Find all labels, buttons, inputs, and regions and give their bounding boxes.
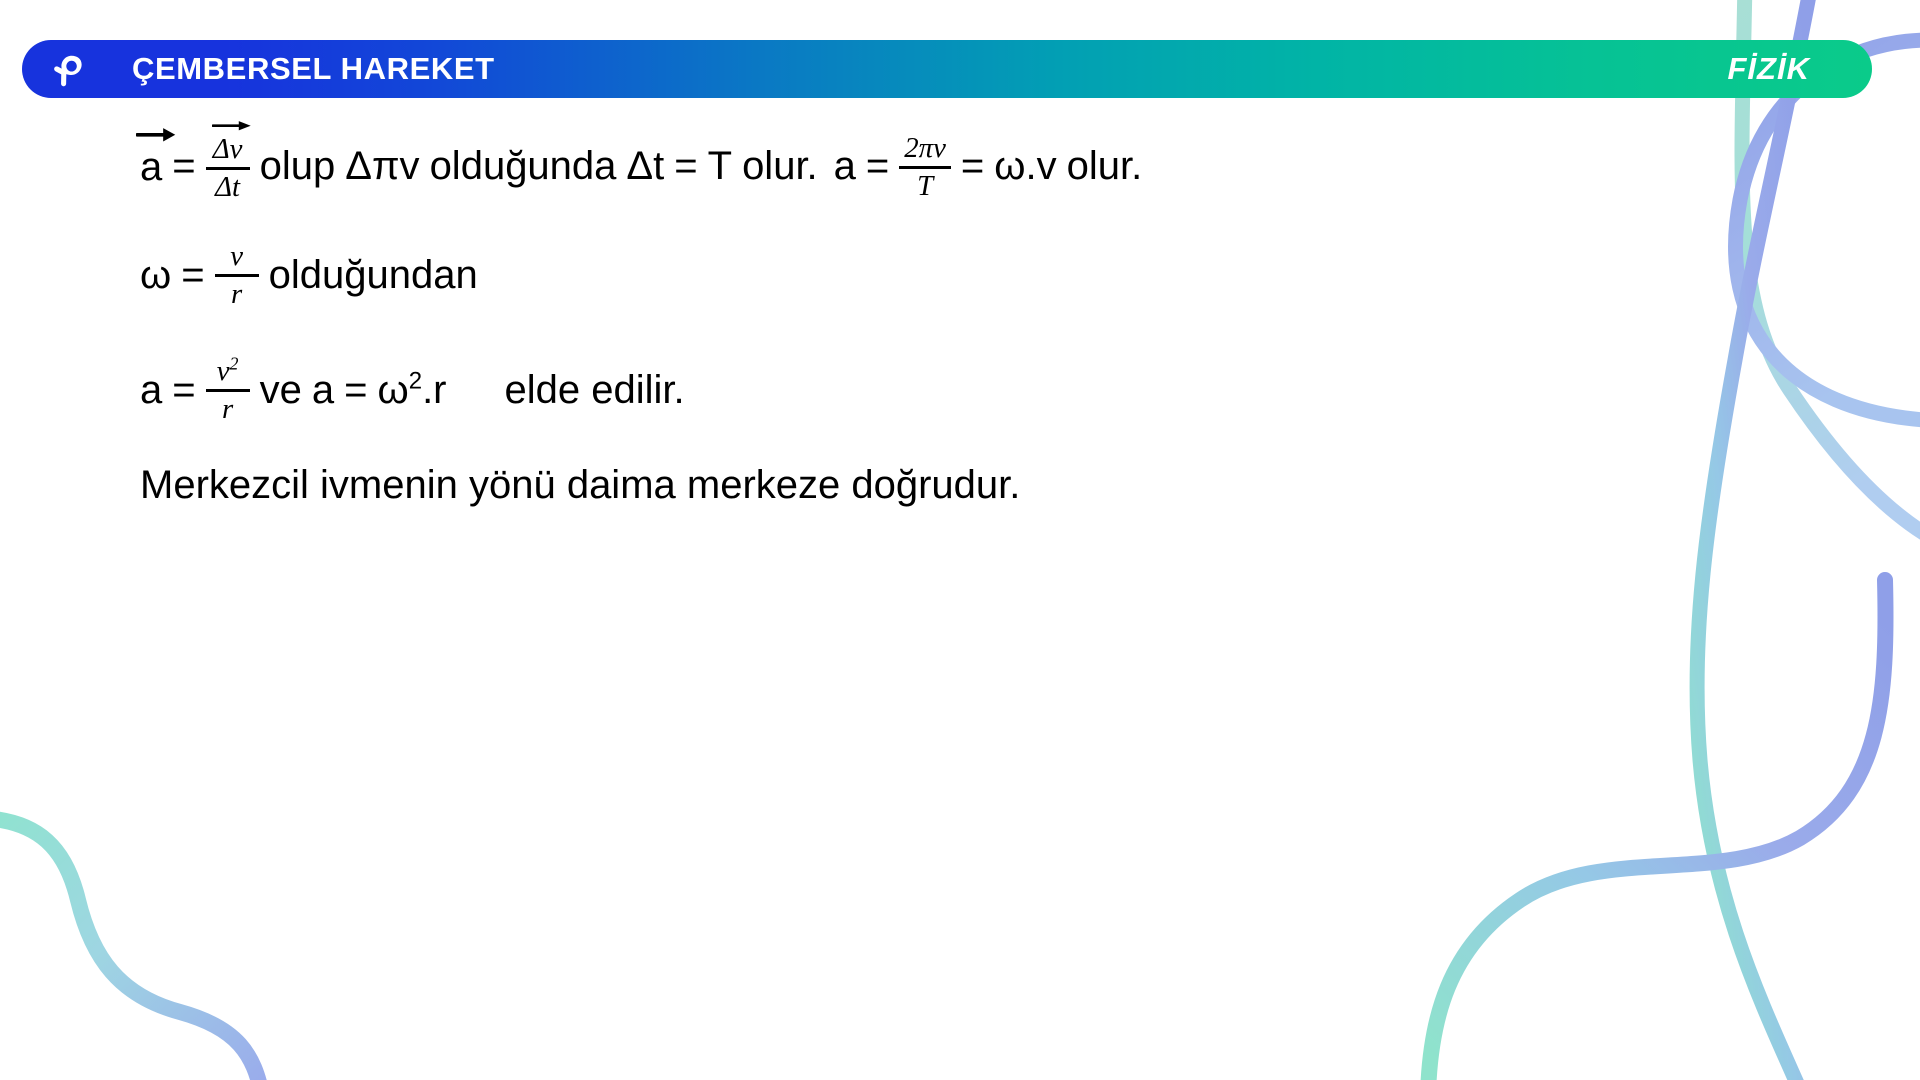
symbol-a-2: a	[834, 146, 856, 186]
symbol-a-2: a	[312, 370, 334, 410]
equals-3: =	[866, 146, 889, 186]
word-olur-1: olur.	[742, 146, 818, 186]
word-olur-2: olur.	[1067, 146, 1143, 186]
fraction-denominator: r	[217, 394, 238, 425]
omega-dot-v: ω.v	[994, 146, 1056, 186]
vector-arrow-icon	[136, 125, 176, 142]
equals-2: =	[674, 146, 697, 186]
omega-squared-r: ω2.r	[377, 370, 446, 410]
equals-1: =	[172, 370, 195, 410]
word-oldugunda: olduğunda	[430, 146, 617, 186]
fraction-denominator: r	[226, 279, 247, 310]
symbol-a: a	[140, 370, 162, 410]
word-ve: ve	[260, 370, 302, 410]
word-oldugundan: olduğundan	[269, 255, 478, 295]
fraction-denominator: T	[912, 171, 938, 202]
fraction-bar	[899, 166, 951, 169]
fraction-v-over-r: v r	[215, 241, 259, 310]
statement-line: Merkezcil ivmenin yönü daima merkeze doğ…	[140, 465, 1020, 505]
fraction-2pi-v-over-T: 2πv T	[899, 133, 951, 202]
fraction-delta-v-over-delta-t: Δv Δt	[206, 131, 250, 203]
vector-arrow-icon	[212, 119, 252, 131]
formula-line-2: ω = v r olduğundan	[140, 240, 478, 309]
exponent-2: 2	[409, 367, 422, 394]
fraction-v-squared-over-r: v2 r	[206, 356, 250, 425]
fraction-bar	[215, 274, 259, 277]
symbol-omega: ω	[140, 255, 171, 295]
fraction-denominator: Δt	[210, 172, 245, 203]
slide-body: a = Δv Δt olup Δπv olduğunda Δt = T olur…	[0, 0, 1920, 1080]
fraction-numerator: 2πv	[899, 133, 951, 164]
equals-4: =	[961, 146, 984, 186]
exponent-2: 2	[230, 353, 239, 373]
fraction-numerator: v2	[212, 356, 244, 387]
equals: =	[181, 255, 204, 295]
phrase-elde-edilir: elde edilir.	[505, 370, 685, 410]
delta-pi-v: Δπv	[345, 146, 419, 186]
acceleration-vector-symbol: a	[140, 145, 162, 187]
equals-1: =	[172, 146, 195, 186]
equals-2: =	[344, 370, 367, 410]
formula-line-1: a = Δv Δt olup Δπv olduğunda Δt = T olur…	[140, 130, 1142, 202]
fraction-numerator: v	[225, 241, 248, 272]
symbol-a: a	[140, 145, 162, 189]
word-olup: olup	[260, 146, 336, 186]
formula-line-3: a = v2 r ve a = ω2.r elde edilir.	[140, 355, 685, 424]
period-T: T	[708, 146, 732, 186]
delta-t: Δt	[626, 146, 664, 186]
fraction-numerator: Δv	[208, 131, 248, 165]
fraction-bar	[206, 167, 250, 170]
fraction-bar	[206, 389, 250, 392]
